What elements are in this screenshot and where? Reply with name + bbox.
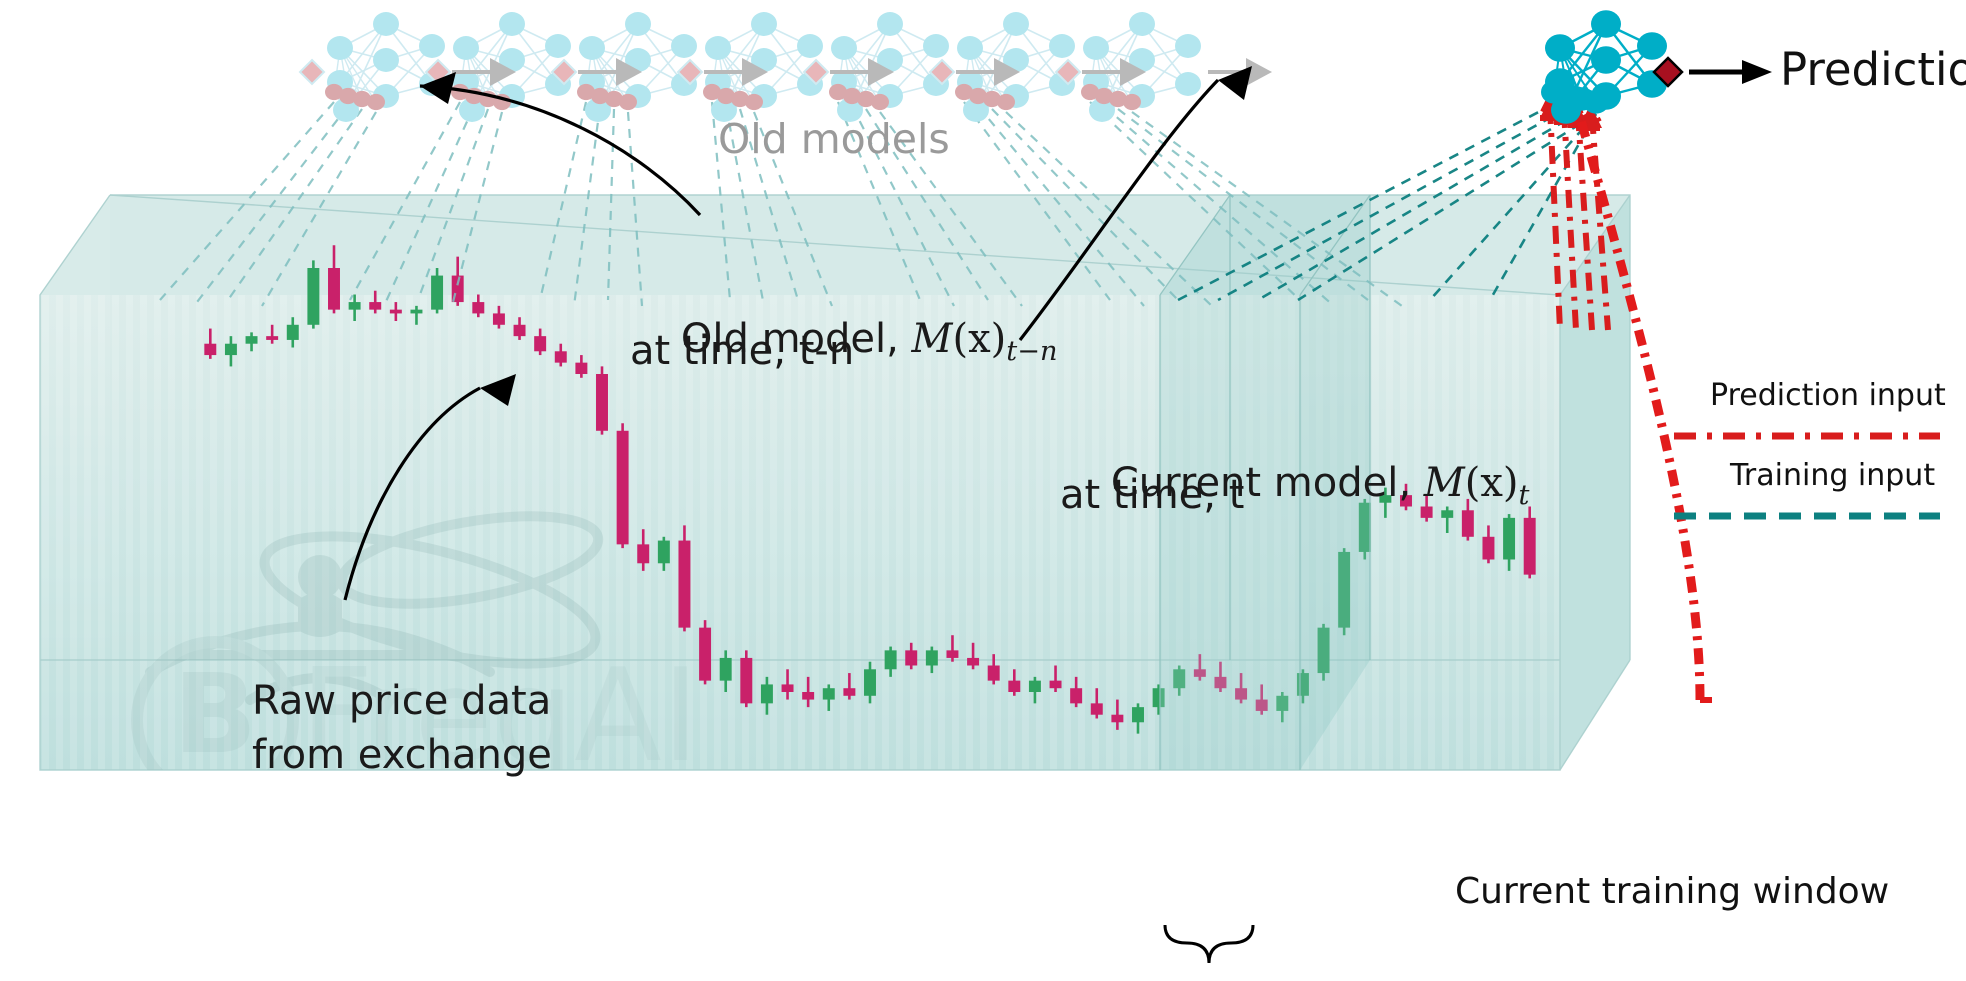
old-models-label: Old models	[718, 118, 950, 161]
candle-body	[905, 650, 917, 665]
old-model-math: M(x)t−n	[912, 316, 1058, 362]
prediction-arrow	[1689, 60, 1772, 84]
neural-network-row	[300, 10, 1682, 124]
candle-body	[534, 336, 546, 351]
candle-body	[390, 310, 402, 314]
candle-body	[823, 688, 835, 699]
network-neuron	[1049, 34, 1075, 58]
network-neuron	[671, 34, 697, 58]
network-neuron	[453, 36, 479, 60]
candle-body	[575, 363, 587, 374]
old-model-network	[955, 12, 1075, 122]
candle-body	[287, 325, 299, 340]
candle-body	[864, 669, 876, 696]
candle-body	[1029, 681, 1041, 692]
candle-body	[699, 628, 711, 681]
candle-body	[720, 658, 732, 681]
candle-body	[988, 666, 1000, 681]
candle-body	[596, 374, 608, 431]
candle-body	[617, 431, 629, 545]
old-model-network	[577, 12, 697, 122]
candle-body	[1070, 688, 1082, 703]
network-neuron	[499, 12, 525, 36]
model-handoff-diamond	[300, 60, 324, 84]
svg-text:B: B	[173, 650, 257, 778]
network-input-neuron	[1583, 90, 1609, 113]
candle-body	[740, 658, 752, 703]
candle-body	[472, 302, 484, 313]
network-neuron	[1003, 12, 1029, 36]
network-input-neuron	[997, 94, 1015, 110]
candle-body	[328, 268, 340, 310]
candle-body	[1091, 703, 1103, 714]
candle-body	[410, 310, 422, 314]
network-neuron	[579, 36, 605, 60]
network-neuron	[373, 12, 399, 36]
old-model-network	[451, 12, 571, 122]
candle-body	[967, 658, 979, 666]
old-model-network	[703, 12, 823, 122]
network-neuron	[327, 36, 353, 60]
training-window-brace	[1165, 925, 1253, 963]
candle-body	[204, 344, 216, 355]
network-neuron	[373, 48, 399, 72]
candle-body	[1008, 681, 1020, 692]
raw-price-callout-line2: from exchange	[252, 734, 552, 776]
network-neuron	[797, 34, 823, 58]
candle-body	[307, 268, 319, 325]
candle-body	[926, 650, 938, 665]
network-input-neuron	[619, 94, 637, 110]
prediction-label: Prediction	[1780, 46, 1966, 94]
diagram-svg: B FreqAI	[0, 0, 1966, 981]
current-training-window-label: Current training window	[1455, 873, 1889, 911]
network-neuron	[923, 34, 949, 58]
candle-body	[493, 313, 505, 324]
old-model-network	[829, 12, 949, 122]
candle-body	[885, 650, 897, 669]
network-neuron	[1591, 10, 1621, 38]
network-input-neuron	[367, 94, 385, 110]
candle-body	[1111, 715, 1123, 723]
candle-body	[678, 541, 690, 628]
old-model-callout-line2: at time, t-n	[630, 330, 854, 372]
candle-body	[246, 336, 258, 344]
network-neuron	[419, 34, 445, 58]
candle-body	[369, 302, 381, 310]
candle-body	[761, 684, 773, 703]
network-input-neuron	[871, 94, 889, 110]
network-neuron	[877, 12, 903, 36]
candle-body	[266, 336, 278, 340]
network-input-neuron	[1123, 94, 1141, 110]
network-neuron	[1083, 36, 1109, 60]
network-neuron	[1591, 46, 1621, 74]
network-neuron	[1545, 34, 1575, 62]
candle-body	[802, 692, 814, 700]
candle-body	[1132, 707, 1144, 722]
candle-body	[782, 684, 794, 692]
old-model-network	[1081, 12, 1201, 122]
network-neuron	[1637, 32, 1667, 60]
raw-price-callout-line1: Raw price data	[252, 680, 551, 722]
candle-body	[225, 344, 237, 355]
network-neuron	[625, 12, 651, 36]
current-model-network	[1541, 10, 1667, 124]
legend-label-prediction-input: Prediction input	[1710, 380, 1946, 412]
diagram-canvas: B FreqAI	[0, 0, 1966, 981]
network-neuron	[957, 36, 983, 60]
old-model-network	[325, 12, 445, 122]
candle-body	[349, 302, 361, 310]
network-neuron	[1175, 34, 1201, 58]
current-model-callout-line2: at time, t	[1060, 474, 1244, 516]
candle-body	[946, 650, 958, 658]
candle-body	[431, 276, 443, 310]
candle-body	[658, 541, 670, 564]
candle-body	[843, 688, 855, 696]
candle-body	[637, 544, 649, 563]
network-neuron	[751, 12, 777, 36]
network-input-neuron	[745, 94, 763, 110]
candle-body	[555, 351, 567, 362]
network-neuron	[1129, 12, 1155, 36]
candle-body	[514, 325, 526, 336]
candle-body	[1050, 681, 1062, 689]
network-neuron	[705, 36, 731, 60]
network-neuron	[545, 34, 571, 58]
network-neuron	[1175, 72, 1201, 96]
network-neuron	[831, 36, 857, 60]
current-model-math: M(x)t	[1424, 460, 1530, 506]
legend-label-training-input: Training input	[1730, 460, 1935, 492]
